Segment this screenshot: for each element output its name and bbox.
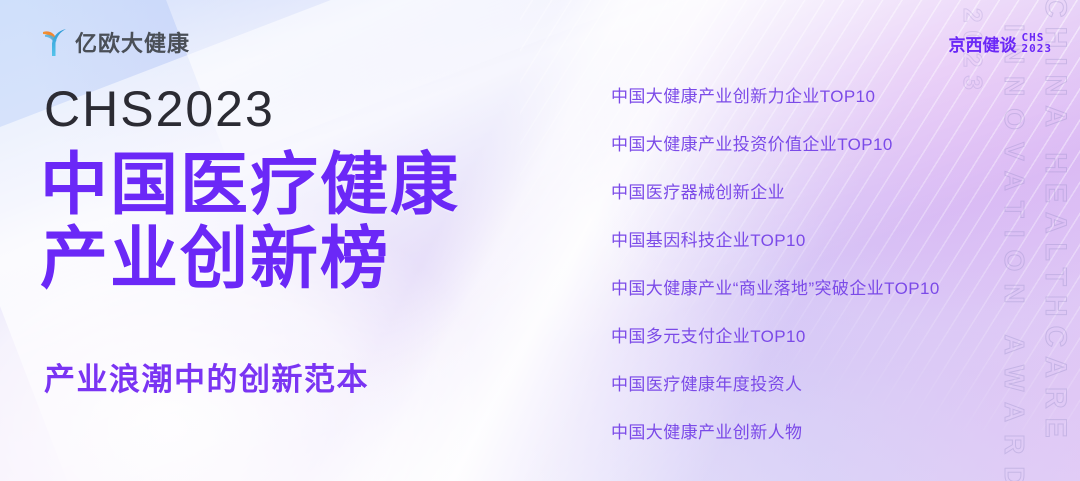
list-item[interactable]: 中国医疗器械创新企业 <box>611 168 1011 216</box>
page-title-line-1: 中国医疗健康 <box>40 147 460 223</box>
page-title: 中国医疗健康 产业创新榜 <box>40 148 460 296</box>
chs-badge-en-line2: 2023 <box>1022 44 1053 54</box>
list-item[interactable]: 中国大健康产业创新力企业TOP10 <box>611 72 1011 120</box>
list-item[interactable]: 中国多元支付企业TOP10 <box>611 312 1011 360</box>
page-subtitle: 产业浪潮中的创新范本 <box>44 354 369 399</box>
vertical-text-china-healthcare: CHINA HEALTHCARE <box>1038 0 1072 447</box>
list-item[interactable]: 中国大健康产业投资价值企业TOP10 <box>611 120 1011 168</box>
poster-canvas: CHINA HEALTHCARE INNOVATION AWARDS OF 20… <box>0 0 1080 481</box>
brand-logo[interactable]: 亿欧大健康 <box>41 26 190 58</box>
chs-badge[interactable]: 京西健谈 CHS 2023 <box>949 31 1053 56</box>
list-item[interactable]: 中国大健康产业创新人物 <box>611 408 1011 456</box>
brand-logo-text: 亿欧大健康 <box>75 26 190 58</box>
chs-badge-cn-text: 京西健谈 <box>949 31 1017 56</box>
y-sprout-icon <box>41 27 69 57</box>
list-item[interactable]: 中国医疗健康年度投资人 <box>611 360 1011 408</box>
page-title-line-2: 产业创新榜 <box>40 222 460 296</box>
list-item[interactable]: 中国基因科技企业TOP10 <box>611 216 1011 264</box>
event-code: CHS2023 <box>44 84 275 134</box>
chs-badge-en-text: CHS 2023 <box>1022 33 1053 54</box>
award-category-list: 中国大健康产业创新力企业TOP10 中国大健康产业投资价值企业TOP10 中国医… <box>611 72 1011 456</box>
list-item[interactable]: 中国大健康产业“商业落地”突破企业TOP10 <box>611 264 1011 312</box>
